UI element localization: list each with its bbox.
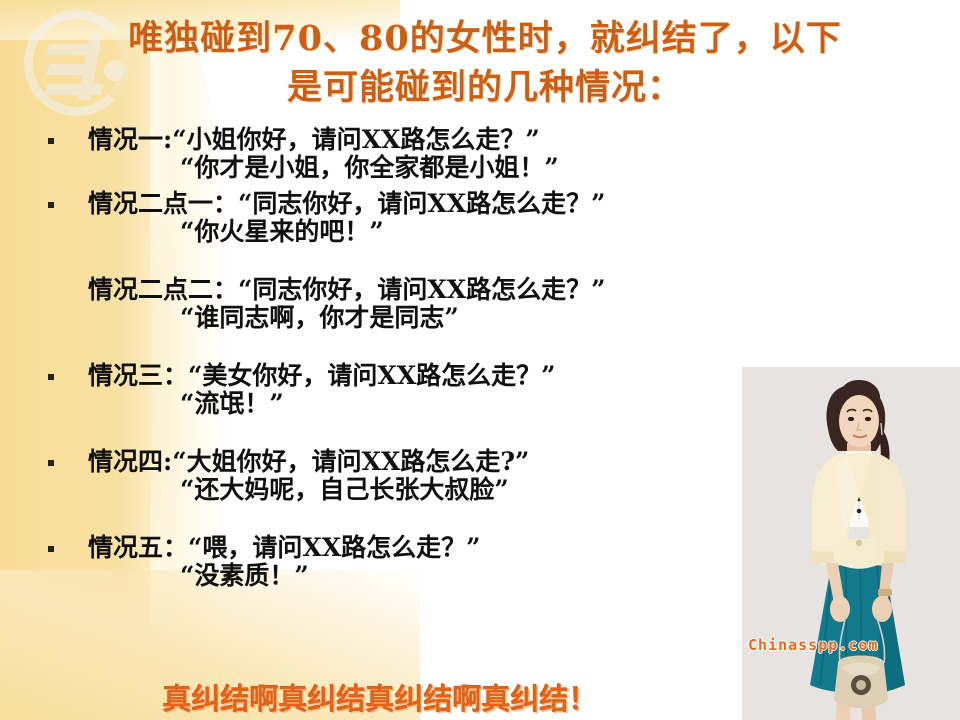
list-item: 情况二点二：“同志你好，请问XX路怎么走？” “谁同志啊，你才是同志” bbox=[40, 276, 760, 332]
spacer bbox=[40, 332, 760, 362]
spacer bbox=[40, 418, 760, 448]
list-item: 情况三：“美女你好，请问XX路怎么走？” “流氓！” bbox=[40, 362, 760, 418]
bullet-icon bbox=[48, 374, 54, 380]
scenario-answer: “流氓！” bbox=[40, 390, 760, 418]
scenario-answer: “没素质！” bbox=[40, 562, 760, 590]
list-item: 情况五：“喂，请问XX路怎么走？” “没素质！” bbox=[40, 534, 760, 590]
scenario-answer: “还大妈呢，自己长张大叔脸” bbox=[40, 476, 760, 504]
page-title-line-2: 是可能碰到的几种情况： bbox=[55, 63, 915, 112]
scenario-question: 情况二点二：“同志你好，请问XX路怎么走？” bbox=[40, 276, 760, 304]
list-item: 情况一:“小姐你好，请问XX路怎么走？” “你才是小姐，你全家都是小姐！” bbox=[40, 126, 760, 182]
page-title: 唯独碰到70、80的女性时，就纠结了，以下 是可能碰到的几种情况： bbox=[55, 14, 915, 112]
scenario-answer: “你才是小姐，你全家都是小姐！” bbox=[40, 154, 760, 182]
spacer bbox=[40, 246, 760, 276]
scenario-question: 情况四:“大姐你好，请问XX路怎么走?” bbox=[40, 448, 760, 476]
bullet-icon bbox=[48, 202, 54, 208]
list-item: 情况二点一：“同志你好，请问XX路怎么走？” “你火星来的吧！” bbox=[40, 190, 760, 246]
bullet-icon bbox=[48, 138, 54, 144]
scenario-answer: “谁同志啊，你才是同志” bbox=[40, 304, 760, 332]
spacer bbox=[40, 504, 760, 534]
bullet-icon bbox=[48, 460, 54, 466]
scenario-question: 情况五：“喂，请问XX路怎么走？” bbox=[40, 534, 760, 562]
photo-watermark: Chinasspp.com bbox=[748, 636, 878, 654]
scenario-question: 情况二点一：“同志你好，请问XX路怎么走？” bbox=[40, 190, 760, 218]
page-title-line-1: 唯独碰到70、80的女性时，就纠结了，以下 bbox=[55, 14, 915, 63]
slide-canvas: 唯独碰到70、80的女性时，就纠结了，以下 是可能碰到的几种情况： 情况一:“小… bbox=[0, 0, 960, 720]
scenario-list: 情况一:“小姐你好，请问XX路怎么走？” “你才是小姐，你全家都是小姐！” 情况… bbox=[40, 126, 760, 590]
list-item: 情况四:“大姐你好，请问XX路怎么走?” “还大妈呢，自己长张大叔脸” bbox=[40, 448, 760, 504]
scenario-answer: “你火星来的吧！” bbox=[40, 218, 760, 246]
model-photo-illustration bbox=[742, 367, 960, 720]
model-photo: Chinasspp.com bbox=[742, 367, 960, 720]
footer-slogan: 真纠结啊真纠结真纠结啊真纠结！ bbox=[0, 676, 760, 718]
scenario-question: 情况一:“小姐你好，请问XX路怎么走？” bbox=[40, 126, 760, 154]
scenario-question: 情况三：“美女你好，请问XX路怎么走？” bbox=[40, 362, 760, 390]
bullet-icon bbox=[48, 546, 54, 552]
